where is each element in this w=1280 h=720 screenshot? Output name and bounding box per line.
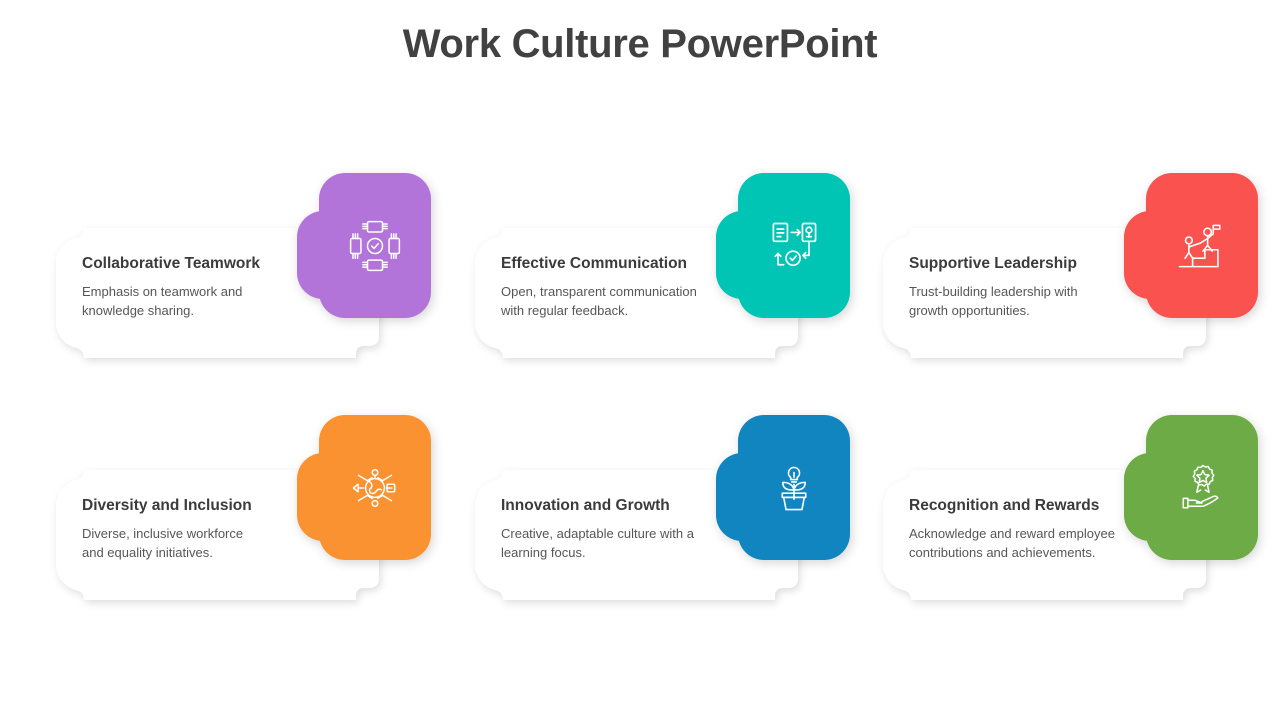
- card-supportive-leadership[interactable]: Supportive Leadership Trust-building lea…: [851, 228, 1206, 358]
- card-innovation-and-growth[interactable]: Innovation and Growth Creative, adaptabl…: [443, 470, 798, 600]
- card-description-line-1: Open, transparent communication: [501, 284, 697, 299]
- card-collaborative-teamwork[interactable]: Collaborative Teamwork Emphasis on teamw…: [24, 228, 379, 358]
- icon-tile-recognition[interactable]: [1146, 415, 1258, 560]
- icon-tile-innovation[interactable]: [738, 415, 850, 560]
- card-description-line-2: knowledge sharing.: [82, 303, 194, 318]
- card-description-line-1: Trust-building leadership with: [909, 284, 1078, 299]
- card-description-line-1: Diverse, inclusive workforce: [82, 526, 243, 541]
- page-title: Work Culture PowerPoint: [0, 18, 1280, 70]
- card-description-line-2: contributions and achievements.: [909, 545, 1095, 560]
- card-description-line-1: Creative, adaptable culture with a: [501, 526, 694, 541]
- card-diversity-and-inclusion[interactable]: Diversity and Inclusion Diverse, inclusi…: [24, 470, 379, 600]
- diversity-globe-icon: [345, 458, 405, 518]
- card-description-line-2: learning focus.: [501, 545, 586, 560]
- card-description-line-1: Emphasis on teamwork and: [82, 284, 242, 299]
- card-effective-communication[interactable]: Effective Communication Open, transparen…: [443, 228, 798, 358]
- icon-tile-communication[interactable]: [738, 173, 850, 318]
- innovation-plant-bulb-icon: [764, 458, 824, 518]
- icon-tile-leadership[interactable]: [1146, 173, 1258, 318]
- slide-canvas: Work Culture PowerPoint Collaborative Te…: [0, 0, 1280, 720]
- icon-tile-diversity[interactable]: [319, 415, 431, 560]
- card-description-line-2: with regular feedback.: [501, 303, 628, 318]
- award-hand-icon: [1172, 458, 1232, 518]
- leadership-steps-icon: [1172, 216, 1232, 276]
- communication-flow-icon: [764, 216, 824, 276]
- teamwork-hands-icon: [345, 216, 405, 276]
- card-description-line-2: and equality initiatives.: [82, 545, 213, 560]
- icon-tile-teamwork[interactable]: [319, 173, 431, 318]
- card-description-line-2: growth opportunities.: [909, 303, 1030, 318]
- card-recognition-and-rewards[interactable]: Recognition and Rewards Acknowledge and …: [851, 470, 1206, 600]
- card-description-line-1: Acknowledge and reward employee: [909, 526, 1115, 541]
